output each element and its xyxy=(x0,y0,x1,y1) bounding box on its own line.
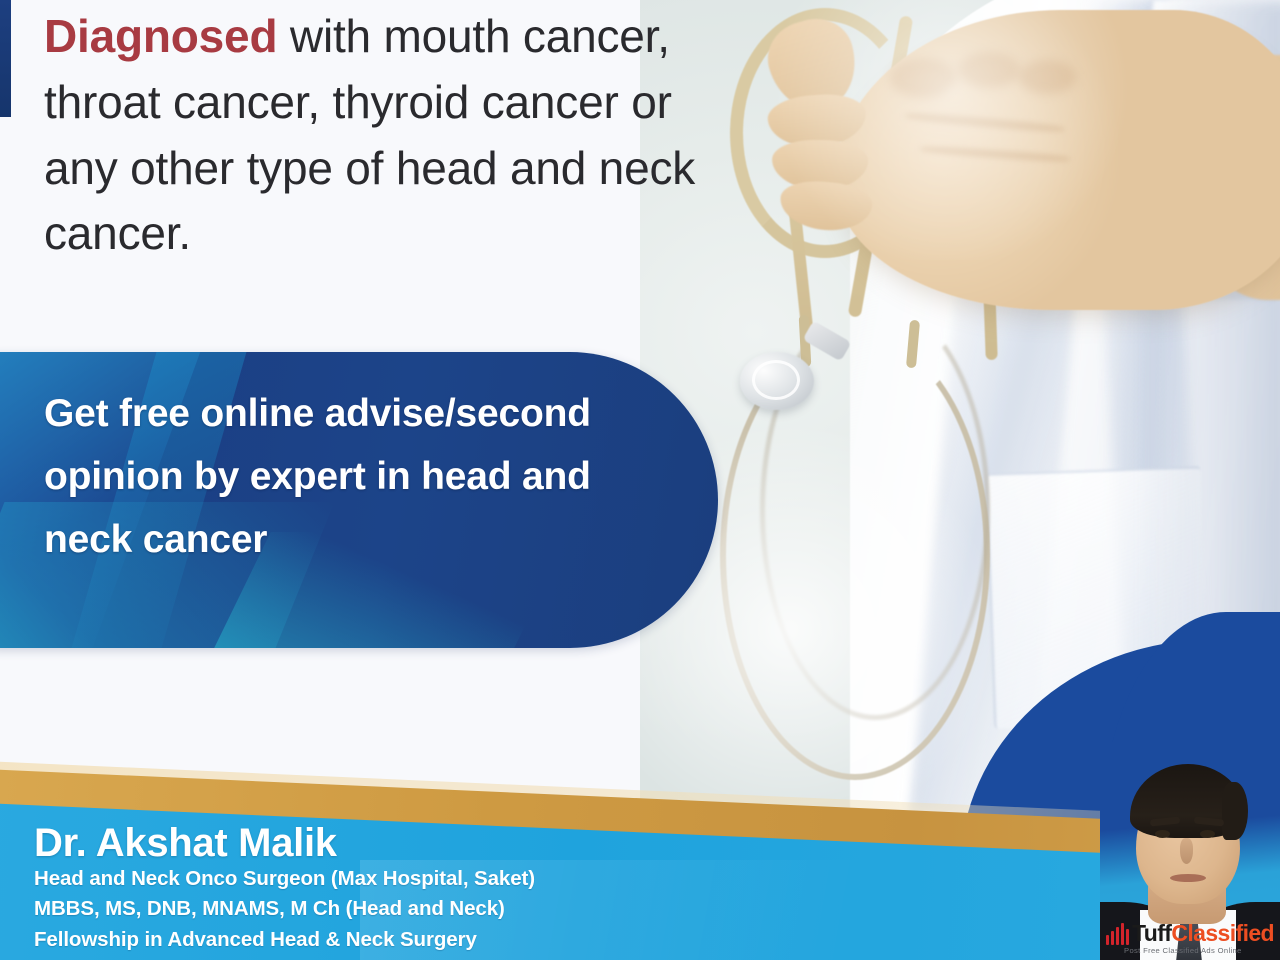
credential-line-1: Head and Neck Onco Surgeon (Max Hospital… xyxy=(34,864,794,894)
headline-emphasis: Diagnosed xyxy=(44,10,277,62)
watermark-word-classified: Classified xyxy=(1171,920,1274,946)
tuffclassified-watermark[interactable]: TuffClassified Post Free Classified Ads … xyxy=(1106,923,1274,955)
portrait-nose xyxy=(1180,838,1193,864)
advertisement-poster: Diagnosed with mouth cancer, throat canc… xyxy=(0,0,1280,960)
credential-line-3: Fellowship in Advanced Head & Neck Surge… xyxy=(34,925,794,955)
headline: Diagnosed with mouth cancer, throat canc… xyxy=(44,4,704,267)
stethoscope-chestpiece-ring xyxy=(752,360,800,400)
bar-chart-icon xyxy=(1106,923,1129,945)
watermark-tagline: Post Free Classified Ads Online xyxy=(1106,946,1242,955)
watermark-logo-row: TuffClassified xyxy=(1106,923,1274,945)
cta-panel[interactable]: Get free online advise/second opinion by… xyxy=(0,352,718,648)
portrait-hair xyxy=(1222,782,1248,840)
portrait-mouth xyxy=(1170,874,1206,882)
credential-line-2: MBBS, MS, DNB, MNAMS, M Ch (Head and Nec… xyxy=(34,894,794,924)
portrait-eye xyxy=(1155,830,1170,838)
cta-text: Get free online advise/second opinion by… xyxy=(44,382,674,572)
left-accent-tab xyxy=(0,0,11,117)
watermark-word-tuff: Tuff xyxy=(1132,920,1171,946)
watermark-wordmark: TuffClassified xyxy=(1132,923,1274,945)
light-bloom xyxy=(760,0,1140,260)
doctor-name: Dr. Akshat Malik xyxy=(34,822,794,864)
portrait-eye xyxy=(1200,830,1215,838)
doctor-credentials-block: Dr. Akshat Malik Head and Neck Onco Surg… xyxy=(34,822,794,955)
